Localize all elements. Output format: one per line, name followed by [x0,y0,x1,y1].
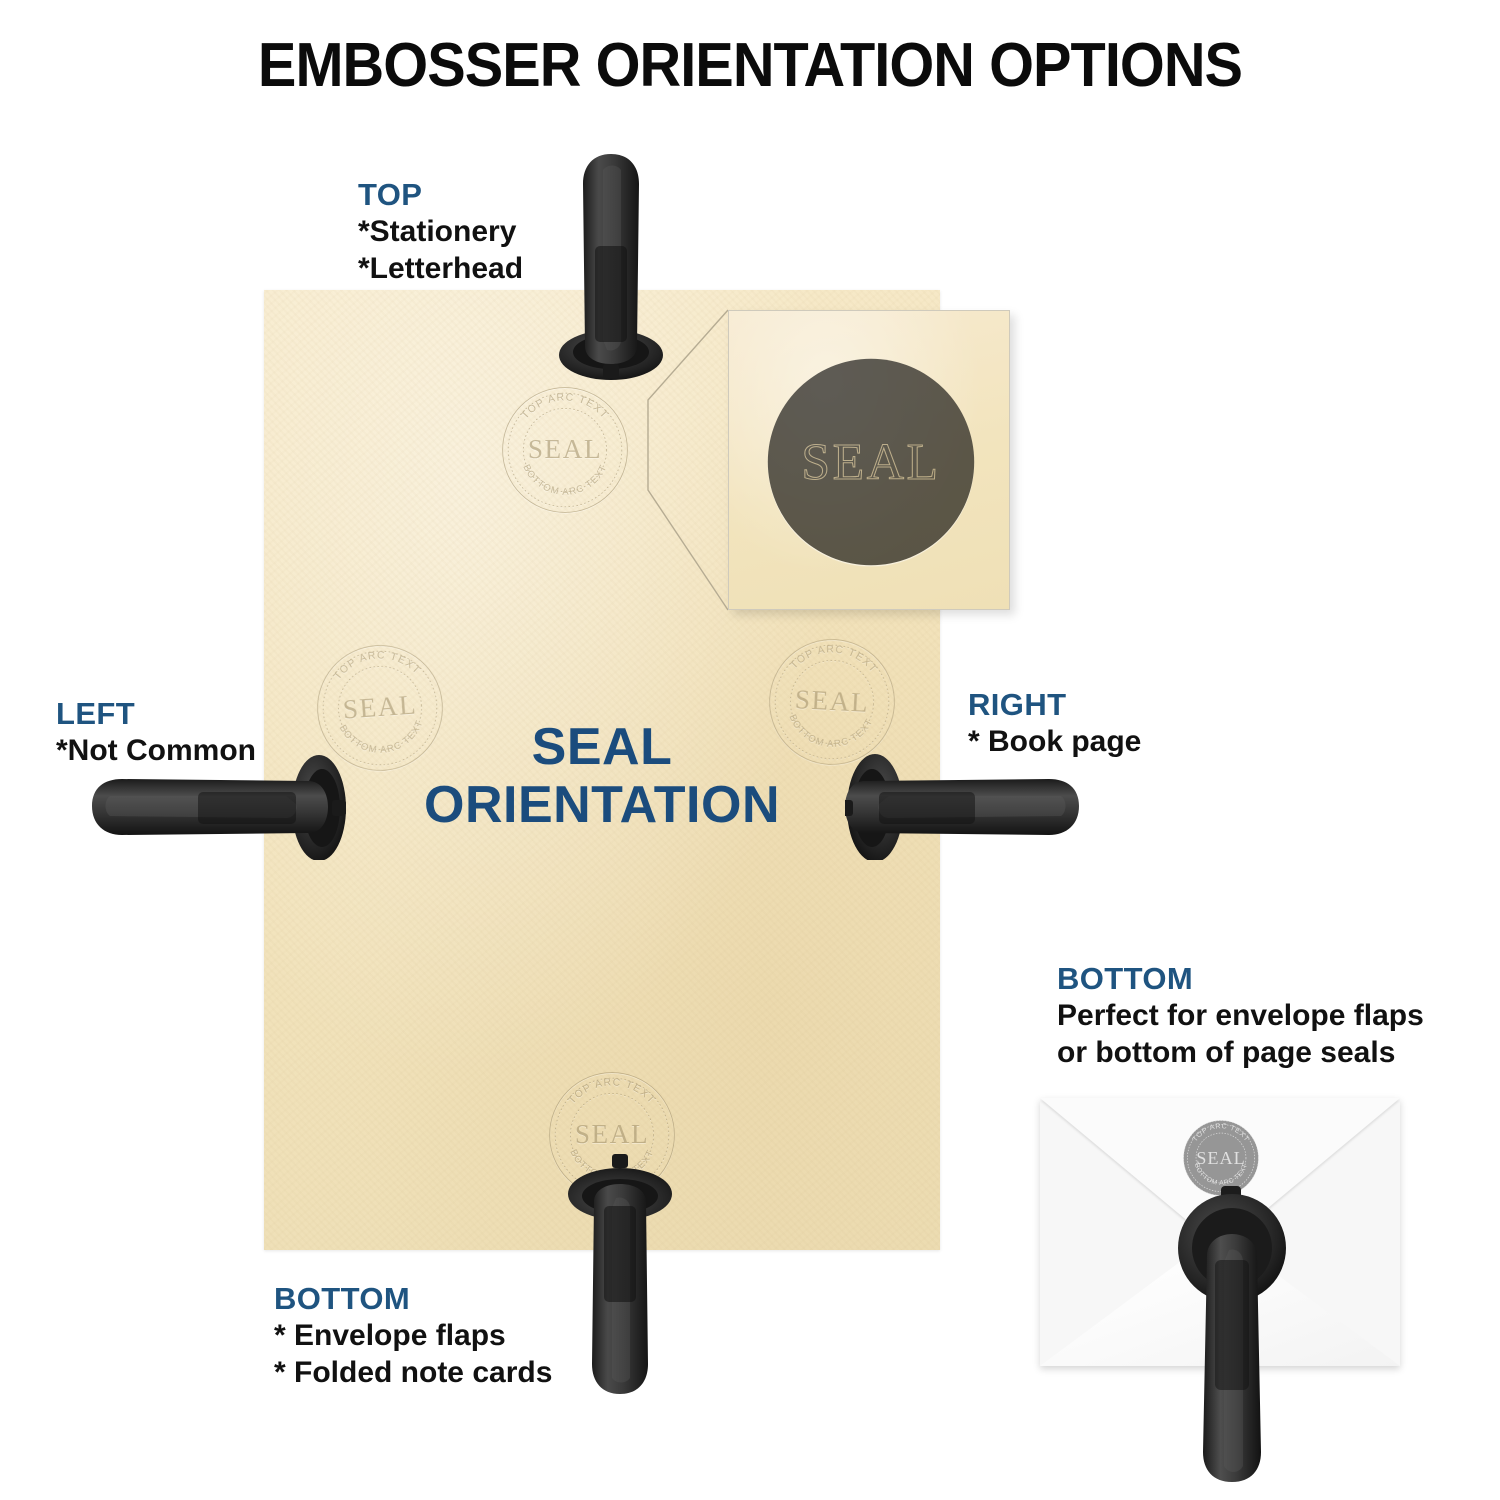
page-title: EMBOSSER ORIENTATION OPTIONS [53,30,1448,101]
label-block-bottom-page: BOTTOM * Envelope flaps * Folded note ca… [274,1282,552,1391]
label-bottom-envelope-line-2: or bottom of page seals [1057,1034,1424,1071]
label-top-line-2: *Letterhead [358,250,523,287]
label-right-heading: RIGHT [968,688,1141,723]
label-bottom-page-heading: BOTTOM [274,1282,552,1317]
label-block-right: RIGHT * Book page [968,688,1141,760]
label-block-top: TOP *Stationery *Letterhead [358,178,523,287]
seal-bottom-arc-text: BOTTOM ARC TEXT [520,463,609,498]
label-block-left: LEFT *Not Common [56,697,256,769]
seal-center-text: SEAL [575,1119,649,1149]
embosser-tool-right [845,752,1085,860]
seal-impression-top: TOP ARC TEXT BOTTOM ARC TEXT SEAL [485,370,645,530]
callout-center-text: SEAL [801,434,940,491]
label-right-line-1: * Book page [968,723,1141,760]
label-bottom-page-line-1: * Envelope flaps [274,1317,552,1354]
center-caption-line-2: ORIENTATION [264,776,940,834]
seal-center-text: SEAL [794,684,870,718]
label-top-line-1: *Stationery [358,213,523,250]
embosser-tool-top [551,150,671,380]
label-bottom-page-line-2: * Folded note cards [274,1354,552,1391]
label-left-heading: LEFT [56,697,256,732]
envelope-seal-center-text: SEAL [1196,1148,1245,1168]
label-bottom-envelope-line-1: Perfect for envelope flaps [1057,997,1424,1034]
seal-center-text: SEAL [528,434,602,464]
label-block-bottom-envelope: BOTTOM Perfect for envelope flaps or bot… [1057,962,1424,1071]
infographic-canvas: EMBOSSER ORIENTATION OPTIONS TOP ARC TEX… [0,0,1500,1500]
embosser-tool-bottom [560,1150,680,1400]
magnified-seal-impression: TOP ARC TEXT BOTTOM ARC TEXT SEAL [742,333,1000,591]
label-left-line-1: *Not Common [56,732,256,769]
envelope-example: TOP ARC TEXT BOTTOM ARC TEXT SEAL [1040,1098,1400,1368]
center-caption: SEAL ORIENTATION [264,718,940,834]
center-caption-line-1: SEAL [264,718,940,776]
label-bottom-envelope-heading: BOTTOM [1057,962,1424,997]
embosser-tool-envelope [1177,1186,1287,1486]
magnified-seal-panel: TOP ARC TEXT BOTTOM ARC TEXT SEAL [728,310,1010,610]
label-top-heading: TOP [358,178,523,213]
svg-text:BOTTOM ARC TEXT: BOTTOM ARC TEXT [520,463,609,498]
